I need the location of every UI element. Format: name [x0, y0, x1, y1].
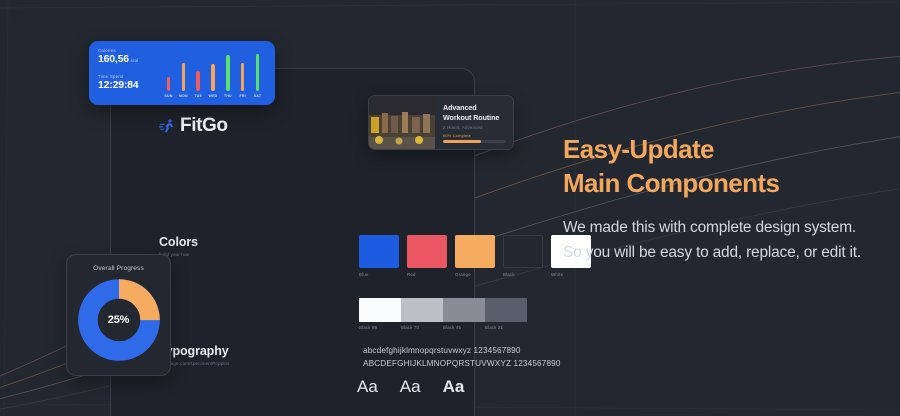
color-swatch-label: Orange [455, 272, 495, 277]
color-swatch-list: Blue Red Orange Black White [359, 235, 591, 277]
bar [182, 63, 185, 91]
time-spend-value: 12:29:84 [98, 79, 150, 91]
type-weight-sample: Aa [443, 377, 465, 397]
bar [211, 64, 214, 91]
promo-headline-line1: Easy-Update [563, 133, 863, 167]
color-swatch-label: Red [407, 272, 447, 277]
bar [241, 63, 244, 91]
calories-unit: kcal [131, 58, 138, 63]
color-swatch[interactable]: Orange [455, 235, 495, 277]
bar [167, 77, 170, 91]
bar [196, 71, 199, 91]
promo-headline-line2: Main Components [563, 167, 863, 201]
section-colors: Colors build your hue [159, 235, 198, 257]
color-swatch-chip [455, 235, 495, 268]
bar-column: TUE [192, 71, 205, 98]
brand-logo: FitGo [159, 115, 228, 137]
type-specimen-lowercase: abcdefghijklmnopqrstuvwxyz 1234567890 [363, 346, 521, 355]
color-swatch-chip [407, 235, 447, 268]
bar-label: SAT [254, 94, 262, 98]
bar-column: MON [177, 63, 190, 98]
routine-subtitle: 2 Hours, Advanced [443, 125, 506, 130]
bar [256, 54, 259, 91]
activity-stats-card: Calories 160,56kcal Time Spend 12:29:84 … [89, 41, 275, 105]
gray-ramp-chip [401, 298, 443, 322]
type-specimen-uppercase: ABCDEFGHIJKLMNOPQRSTUVWXYZ 1234567890 [363, 359, 561, 368]
routine-progress-bar [443, 140, 506, 143]
routine-details: Advanced Workout Routine 2 Hours, Advanc… [435, 96, 513, 149]
type-weight-sample: Aa [400, 377, 421, 397]
overall-progress-title: Overall Progress [67, 265, 170, 272]
progress-donut-chart: 25% [78, 279, 160, 361]
overall-progress-card: Overall Progress 25% [66, 254, 171, 376]
color-swatch-label: White [551, 272, 591, 277]
gray-ramp-chip [443, 298, 485, 322]
color-swatch-label: Black [503, 272, 543, 277]
bar-label: FRI [239, 94, 245, 98]
color-swatch-chip [503, 235, 543, 268]
section-colors-title: Colors [159, 235, 198, 249]
bar-label: TUE [194, 94, 202, 98]
bar [226, 55, 229, 91]
gray-ramp-label: Black 21 [485, 325, 527, 330]
gray-ramp [359, 298, 527, 322]
bar-label: MON [179, 94, 188, 98]
color-swatch-label: Blue [359, 272, 399, 277]
calories-stat: Calories 160,56kcal [98, 48, 150, 65]
routine-thumbnail [369, 96, 435, 149]
promo-copy: Easy-Update Main Components We made this… [563, 133, 863, 265]
workout-routine-card[interactable]: Advanced Workout Routine 2 Hours, Advanc… [368, 95, 514, 150]
gray-ramp-label: Black 45 [443, 325, 485, 330]
brand-name: FitGo [180, 115, 228, 137]
bar-label: THU [224, 94, 232, 98]
promo-body: We made this with complete design system… [563, 215, 863, 265]
stats-summary: Calories 160,56kcal Time Spend 12:29:84 [98, 48, 150, 98]
type-weight-samples: Aa Aa Aa [357, 377, 464, 397]
promo-headline: Easy-Update Main Components [563, 133, 863, 201]
bar-column: WED [206, 64, 219, 98]
gray-ramp-labels: Black 99 Black 70 Black 45 Black 21 [359, 325, 527, 330]
bar-column: SUN [162, 77, 175, 98]
gray-ramp-label: Black 70 [401, 325, 443, 330]
gray-ramp-chip [359, 298, 401, 322]
screenshot-root: FitGo Colors build your hue Blue Red Or [0, 0, 900, 416]
calories-value: 160,56kcal [98, 53, 150, 65]
color-swatch[interactable]: Black [503, 235, 543, 277]
color-swatch[interactable]: Red [407, 235, 447, 277]
color-swatch[interactable]: Blue [359, 235, 399, 277]
color-swatch-chip [359, 235, 399, 268]
weekly-activity-bar-chart: SUN MON TUE WED THU FRI [158, 48, 266, 98]
routine-progress-fill [443, 140, 481, 143]
time-spend-stat: Time Spend 12:29:84 [98, 74, 150, 91]
routine-title: Advanced Workout Routine [443, 103, 506, 122]
gray-ramp-chip [485, 298, 527, 322]
gray-ramp-label: Black 99 [359, 325, 401, 330]
bar-column: THU [221, 55, 234, 98]
bar-label: WED [208, 94, 217, 98]
bar-column: FRI [236, 63, 249, 98]
bar-label: SUN [164, 94, 172, 98]
runner-icon [159, 118, 176, 135]
type-weight-sample: Aa [357, 377, 378, 397]
progress-center-value: 25% [108, 314, 129, 326]
bar-column: SAT [251, 54, 264, 98]
routine-progress-label: 60% Complete [443, 133, 471, 138]
